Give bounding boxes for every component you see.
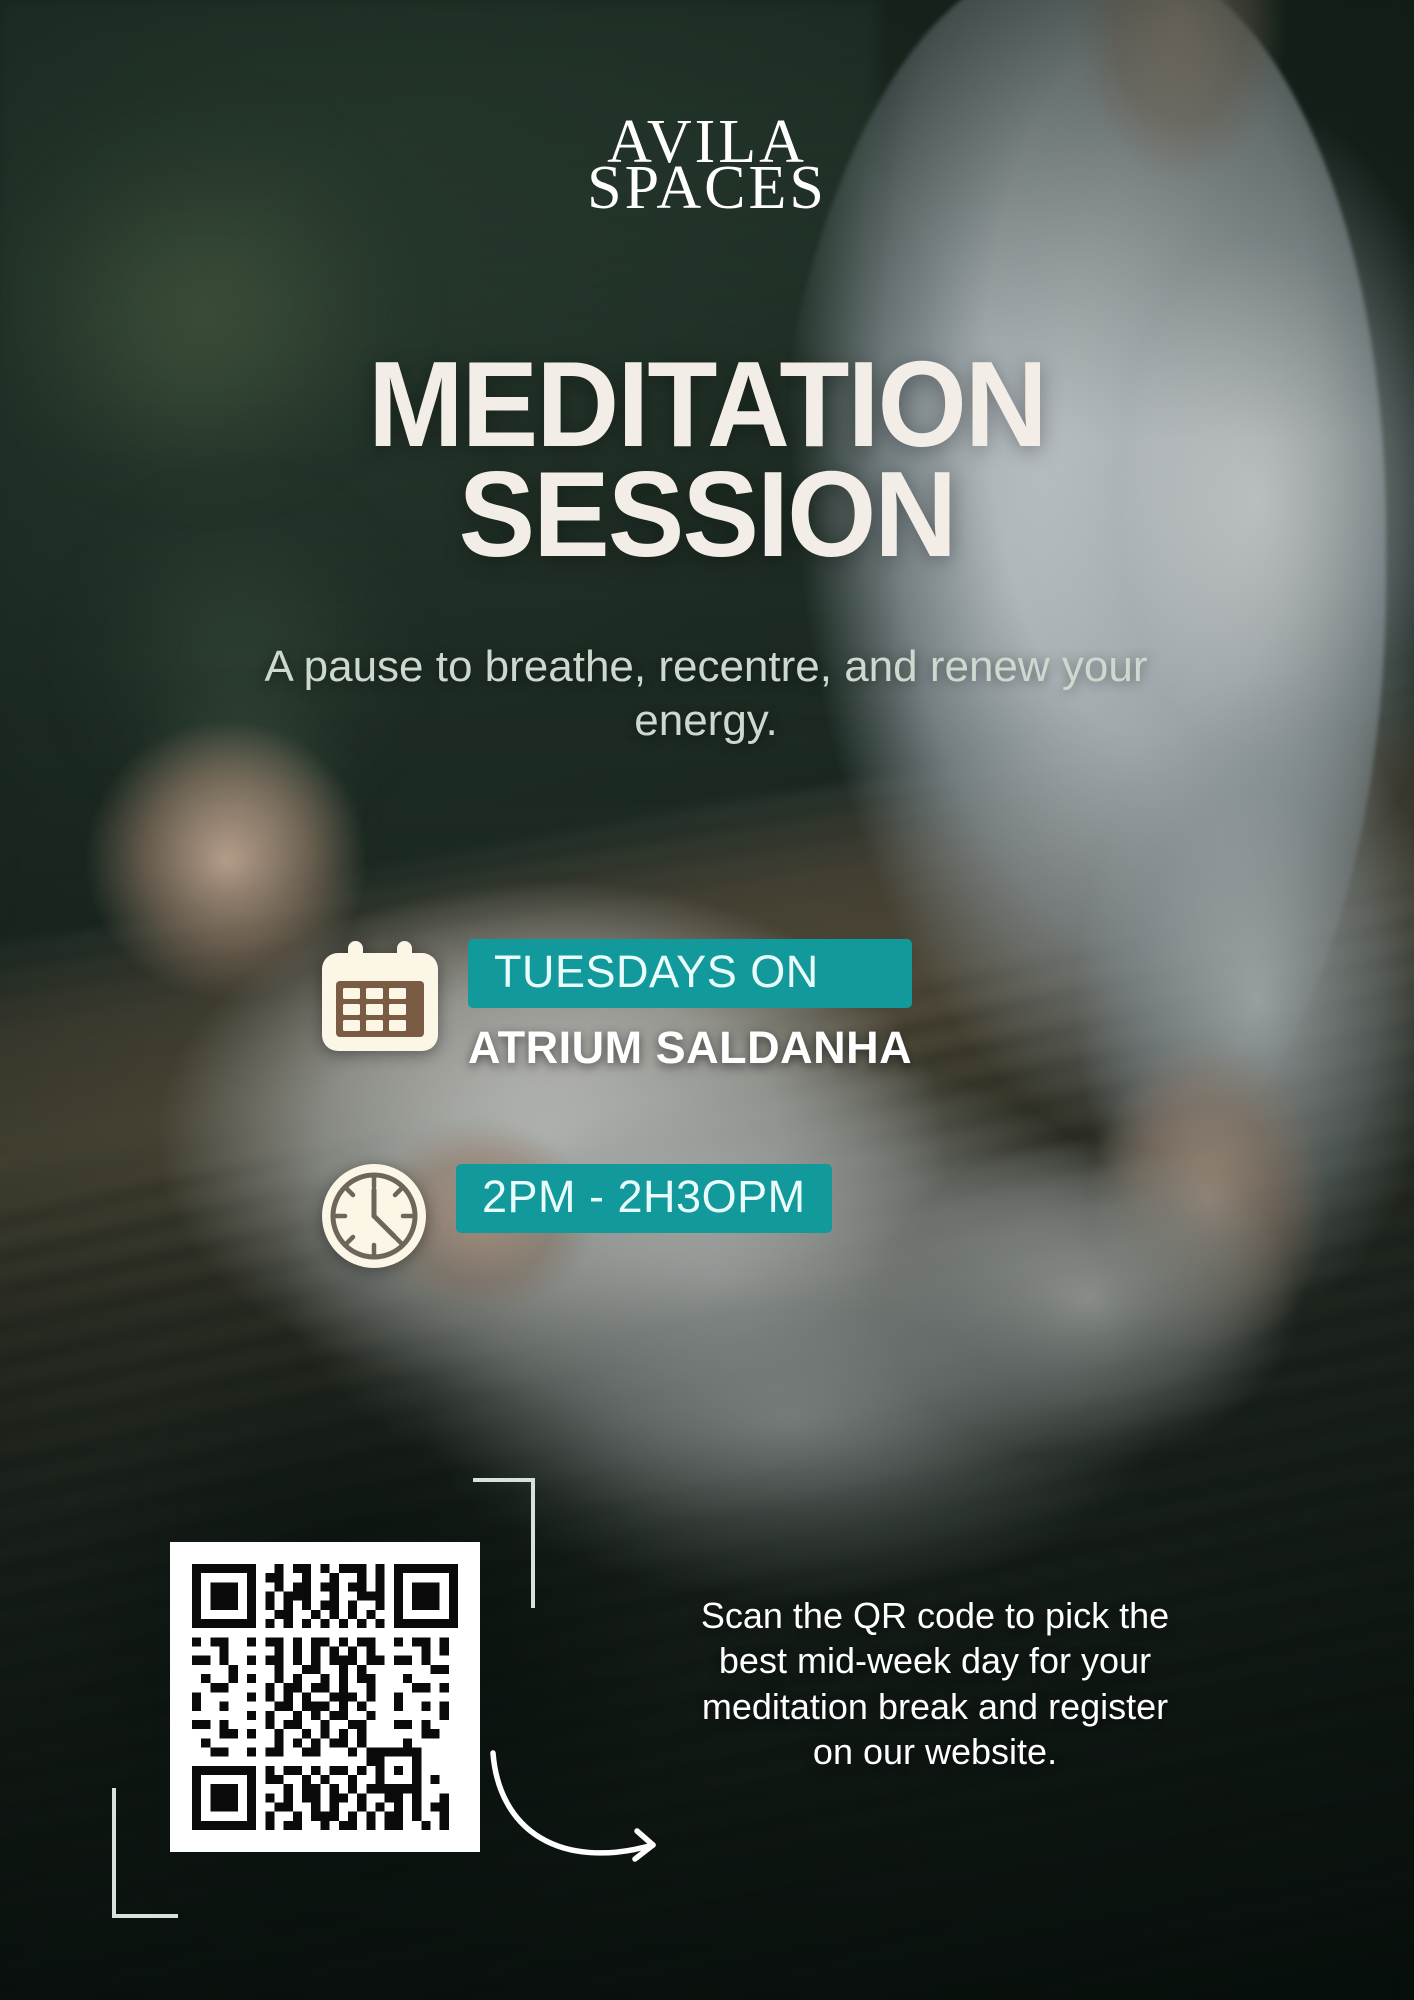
bracket-top-right bbox=[473, 1478, 535, 1608]
time-text-group: 2PM - 2H3OPM bbox=[456, 1160, 832, 1233]
curved-arrow-icon bbox=[485, 1735, 715, 1885]
calendar-icon bbox=[318, 935, 442, 1060]
clock-icon bbox=[318, 1160, 430, 1277]
brand-logo-line-2: SPACES bbox=[0, 164, 1414, 214]
qr-code[interactable] bbox=[170, 1542, 480, 1852]
detail-row-schedule: TUESDAYS ON ATRIUM SALDANHA bbox=[318, 935, 912, 1074]
poster-canvas: AVILA SPACES MEDITATION SESSION A pause … bbox=[0, 0, 1414, 2000]
poster-title: MEDITATION SESSION bbox=[42, 350, 1371, 570]
detail-row-time: 2PM - 2H3OPM bbox=[318, 1160, 832, 1277]
bracket-bottom-left bbox=[112, 1788, 178, 1918]
qr-code-block[interactable] bbox=[170, 1542, 480, 1852]
schedule-venue: ATRIUM SALDANHA bbox=[468, 1022, 912, 1074]
brand-logo: AVILA SPACES bbox=[0, 118, 1414, 213]
poster-title-line-2: SESSION bbox=[42, 460, 1371, 570]
qr-caption: Scan the QR code to pick the best mid-we… bbox=[700, 1593, 1170, 1774]
poster-title-line-1: MEDITATION bbox=[42, 350, 1371, 460]
time-badge: 2PM - 2H3OPM bbox=[456, 1164, 832, 1233]
schedule-day-badge: TUESDAYS ON bbox=[468, 939, 912, 1008]
poster-tagline: A pause to breathe, recentre, and renew … bbox=[236, 640, 1176, 748]
schedule-text-group: TUESDAYS ON ATRIUM SALDANHA bbox=[468, 935, 912, 1074]
